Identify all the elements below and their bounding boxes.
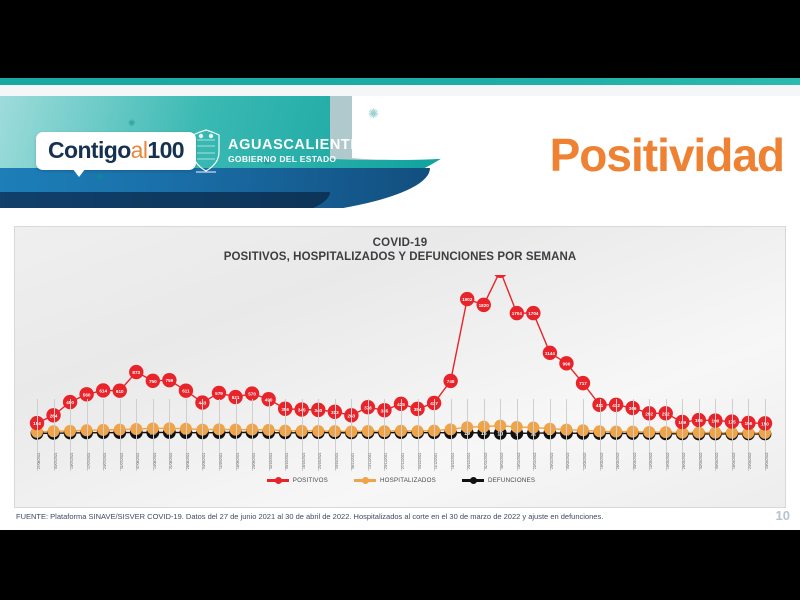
x-axis-label: 02/10/2021 bbox=[269, 452, 273, 469]
x-axis-label: 02/04/2022 bbox=[699, 452, 703, 469]
x-axis-label: 12/02/2022 bbox=[583, 452, 587, 469]
point-label: 570 bbox=[248, 392, 256, 397]
x-axis-label: 27/06/2021 bbox=[37, 452, 41, 469]
data-point: 748 bbox=[443, 374, 457, 388]
slide-stage: ✺ ✺ ✺ ✺ Contigo al 100 AGUASCALI bbox=[0, 0, 800, 600]
x-axis-label: 29/01/2022 bbox=[550, 452, 554, 469]
chart-subtitle: POSITIVOS, HOSPITALIZADOS Y DEFUNCIONES … bbox=[15, 251, 785, 263]
legend-swatch-defunciones bbox=[462, 479, 484, 482]
virus-icon: ✺ bbox=[368, 106, 379, 122]
legend-label-hospitalizados: HOSPITALIZADOS bbox=[380, 477, 436, 484]
x-axis-label: 24/07/2021 bbox=[103, 452, 107, 469]
x-axis-label: 26/03/2022 bbox=[682, 452, 686, 469]
data-point: 579 bbox=[212, 386, 226, 400]
point-label: 1704 bbox=[512, 311, 523, 316]
data-point: 2300 bbox=[493, 275, 507, 278]
coat-of-arms-svg bbox=[190, 128, 222, 174]
x-axis-label: 15/01/2022 bbox=[517, 452, 521, 469]
x-axis-label: 23/04/2022 bbox=[748, 452, 752, 469]
source-footer: FUENTE: Plataforma SINAVE/SISVER COVID-1… bbox=[16, 512, 786, 521]
point-label: 996 bbox=[563, 361, 571, 366]
x-axis-label: 10/07/2021 bbox=[70, 452, 74, 469]
x-axis-label: 25/09/2021 bbox=[252, 452, 256, 469]
x-axis-label: 04/12/2021 bbox=[418, 452, 422, 469]
point-label: 717 bbox=[579, 381, 587, 386]
data-point: 1704 bbox=[510, 306, 524, 320]
logo-text-contigo: Contigo bbox=[48, 137, 131, 164]
x-axis-label: 19/03/2022 bbox=[666, 452, 670, 469]
point-label: 1902 bbox=[462, 297, 473, 302]
data-point: 873 bbox=[129, 365, 143, 379]
x-axis-label: 13/11/2021 bbox=[368, 453, 372, 469]
x-axis-label: 23/10/2021 bbox=[318, 452, 322, 469]
data-point: 750 bbox=[146, 374, 160, 388]
data-point: 610 bbox=[113, 384, 127, 398]
x-axis-label: 22/01/2022 bbox=[533, 452, 537, 469]
x-axis-label: 30/04/2022 bbox=[765, 452, 769, 469]
x-axis-label: 30/10/2021 bbox=[335, 452, 339, 469]
marker-positivos bbox=[493, 275, 507, 278]
x-axis-label: 19/02/2022 bbox=[600, 452, 604, 469]
point-label: 611 bbox=[182, 389, 190, 394]
x-axis-label: 28/08/2021 bbox=[186, 452, 190, 469]
x-axis-label: 11/12/2021 bbox=[434, 453, 438, 469]
x-axis-label: 16/10/2021 bbox=[302, 452, 306, 469]
x-axis-label: 11/09/2021 bbox=[219, 453, 223, 469]
point-label: 614 bbox=[99, 389, 107, 394]
virus-icon: ✺ bbox=[128, 118, 136, 129]
point-label: 1820 bbox=[479, 303, 490, 308]
government-subtitle: GOBIERNO DEL ESTADO bbox=[228, 154, 371, 164]
legend-label-defunciones: DEFUNCIONES bbox=[488, 477, 535, 484]
point-label: 873 bbox=[132, 370, 140, 375]
x-axis-label: 04/09/2021 bbox=[202, 452, 206, 469]
page-title: Positividad bbox=[550, 128, 784, 182]
point-label: 560 bbox=[83, 392, 91, 397]
banner-gap bbox=[0, 85, 800, 96]
x-axis-label: 27/11/2021 bbox=[401, 453, 405, 469]
x-axis-label: 31/07/2021 bbox=[120, 452, 124, 469]
chart-title-block: COVID-19 POSITIVOS, HOSPITALIZADOS Y DEF… bbox=[15, 227, 785, 263]
legend-swatch-hospitalizados bbox=[354, 479, 376, 482]
page-number: 10 bbox=[776, 508, 790, 523]
point-label: 579 bbox=[215, 391, 223, 396]
chart-panel: COVID-19 POSITIVOS, HOSPITALIZADOS Y DEF… bbox=[14, 226, 786, 508]
data-point: 1820 bbox=[477, 298, 491, 312]
point-label: 1144 bbox=[545, 351, 555, 356]
x-axis-label: 12/03/2022 bbox=[649, 452, 653, 469]
point-label: 748 bbox=[447, 379, 455, 384]
x-axis-label: 18/09/2021 bbox=[236, 452, 240, 469]
point-label: 750 bbox=[149, 379, 157, 384]
top-teal-strip bbox=[0, 78, 800, 85]
x-axis-label: 14/08/2021 bbox=[153, 452, 157, 469]
data-point: 759 bbox=[162, 373, 176, 387]
virus-icon: ✺ bbox=[96, 172, 104, 183]
banner-navy-wave bbox=[0, 192, 330, 208]
point-label: 610 bbox=[116, 389, 124, 394]
x-axis-label: 08/01/2022 bbox=[500, 452, 504, 469]
data-point: 611 bbox=[179, 383, 193, 397]
x-axis-label: 21/08/2021 bbox=[169, 452, 173, 469]
point-label: 1704 bbox=[528, 311, 539, 316]
x-axis-label: 07/08/2021 bbox=[136, 452, 140, 469]
x-axis-label: 05/03/2022 bbox=[633, 452, 637, 469]
data-point: 717 bbox=[576, 376, 590, 390]
x-axis-label: 05/02/2022 bbox=[566, 452, 570, 469]
chart-x-axis: 27/06/202103/07/202110/07/202117/07/2021… bbox=[25, 399, 777, 471]
legend-item-defunciones: DEFUNCIONES bbox=[462, 477, 535, 484]
data-point: 1902 bbox=[460, 292, 474, 306]
data-point: 1144 bbox=[543, 346, 557, 360]
slide-frame: ✺ ✺ ✺ ✺ Contigo al 100 AGUASCALI bbox=[0, 78, 800, 530]
point-label: 759 bbox=[166, 378, 174, 383]
government-wordmark: AGUASCALIENTES GOBIERNO DEL ESTADO bbox=[228, 137, 371, 164]
data-point: 614 bbox=[96, 383, 110, 397]
logo-speech-tail bbox=[72, 168, 86, 177]
x-axis-label: 17/07/2021 bbox=[87, 452, 91, 469]
x-axis-label: 18/12/2021 bbox=[451, 452, 455, 469]
data-point: 1704 bbox=[526, 306, 540, 320]
x-axis-label: 09/10/2021 bbox=[285, 452, 289, 469]
x-axis-label: 06/11/2021 bbox=[351, 453, 355, 469]
logo-text-al: al bbox=[131, 137, 148, 164]
brand-banner: ✺ ✺ ✺ ✺ Contigo al 100 AGUASCALI bbox=[0, 96, 800, 208]
state-name: AGUASCALIENTES bbox=[228, 137, 371, 153]
legend-item-hospitalizados: HOSPITALIZADOS bbox=[354, 477, 436, 484]
x-axis-label: 25/12/2021 bbox=[467, 452, 471, 469]
chart-legend: POSITIVOS HOSPITALIZADOS DEFUNCIONES bbox=[15, 477, 787, 484]
data-point: 996 bbox=[559, 356, 573, 370]
legend-label-positivos: POSITIVOS bbox=[293, 477, 328, 484]
legend-swatch-positivos bbox=[267, 479, 289, 482]
x-axis-label: 20/11/2021 bbox=[384, 453, 388, 469]
contigo-al-100-logo: Contigo al 100 bbox=[36, 132, 196, 170]
x-axis-label: 03/07/2021 bbox=[54, 452, 58, 469]
x-axis-label: 09/04/2022 bbox=[715, 452, 719, 469]
x-axis-label: 26/02/2022 bbox=[616, 452, 620, 469]
chart-title: COVID-19 bbox=[15, 237, 785, 249]
logo-text-100: 100 bbox=[147, 137, 184, 164]
legend-item-positivos: POSITIVOS bbox=[267, 477, 328, 484]
escudo-aguascalientes-icon bbox=[190, 128, 222, 174]
x-axis-label: 01/01/2022 bbox=[484, 452, 488, 469]
x-axis-label: 16/04/2022 bbox=[732, 452, 736, 469]
